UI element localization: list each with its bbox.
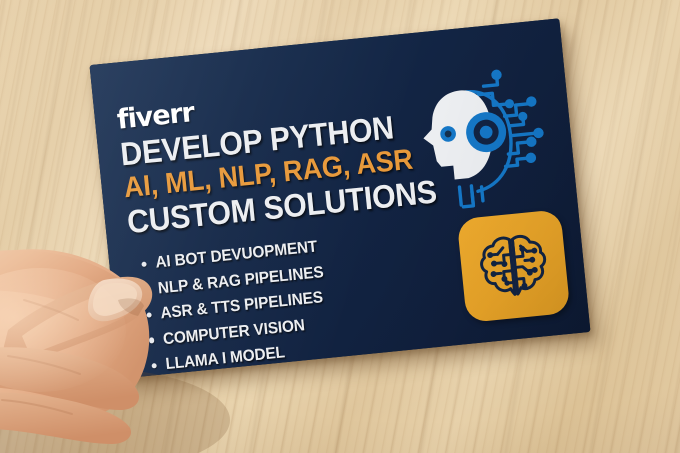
gig-thumbnail-scene: fiverr DEVELOP PYTHON AI, ML, NLP, RAG, … [0,0,680,453]
hand-holding-card [0,0,680,453]
